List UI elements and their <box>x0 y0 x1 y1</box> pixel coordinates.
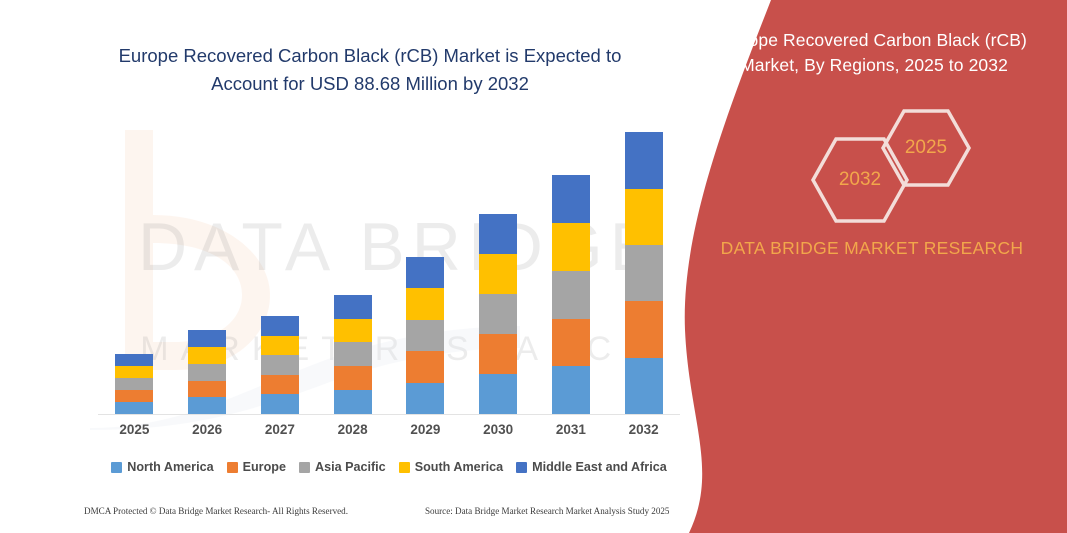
bar-segment <box>406 288 444 320</box>
bar-segment <box>334 390 372 414</box>
stacked-bar-chart <box>98 118 680 415</box>
legend-item[interactable]: Europe <box>227 460 286 474</box>
x-axis-tick: 2026 <box>171 422 244 444</box>
bar-segment <box>334 366 372 390</box>
bar-segment <box>552 366 590 414</box>
bar-segment <box>479 334 517 374</box>
right-brand-panel: Europe Recovered Carbon Black (rCB) Mark… <box>667 0 1067 533</box>
legend-label: South America <box>415 460 503 474</box>
x-axis-tick: 2028 <box>316 422 389 444</box>
bar-segment <box>479 294 517 334</box>
bar-slot <box>244 118 317 414</box>
hex-badge-2032: 2032 <box>810 136 910 224</box>
bar-segment <box>552 175 590 223</box>
legend-swatch-icon <box>111 462 122 473</box>
bar-segment <box>479 374 517 414</box>
legend-swatch-icon <box>399 462 410 473</box>
hexagon-badges: 2025 2032 <box>782 108 1012 223</box>
footer: DMCA Protected © Data Bridge Market Rese… <box>0 506 700 528</box>
bar-segment <box>188 364 226 381</box>
legend-item[interactable]: South America <box>399 460 503 474</box>
x-axis-tick: 2025 <box>98 422 171 444</box>
bar-segment <box>625 358 663 414</box>
bar-segment <box>261 394 299 414</box>
bar-segment <box>552 319 590 367</box>
legend-item[interactable]: Asia Pacific <box>299 460 386 474</box>
x-axis-tick: 2030 <box>462 422 535 444</box>
bar-segment <box>406 257 444 289</box>
stacked-bar[interactable] <box>406 257 444 415</box>
hex-badge-2032-label: 2032 <box>839 169 881 191</box>
bar-segment <box>625 301 663 357</box>
bar-segment <box>115 402 153 414</box>
legend-swatch-icon <box>227 462 238 473</box>
legend-label: Middle East and Africa <box>532 460 667 474</box>
legend-item[interactable]: Middle East and Africa <box>516 460 667 474</box>
x-axis-tick: 2029 <box>389 422 462 444</box>
stacked-bar[interactable] <box>552 175 590 414</box>
x-axis-labels: 20252026202720282029203020312032 <box>98 422 680 444</box>
footer-copyright: DMCA Protected © Data Bridge Market Rese… <box>84 506 348 516</box>
bar-group <box>98 118 680 414</box>
bar-segment <box>625 189 663 245</box>
bar-segment <box>188 330 226 347</box>
bar-segment <box>115 378 153 390</box>
bar-segment <box>334 295 372 319</box>
bar-segment <box>115 366 153 378</box>
bar-segment <box>552 223 590 271</box>
bar-segment <box>479 254 517 294</box>
stacked-bar[interactable] <box>479 214 517 414</box>
bar-segment <box>261 336 299 356</box>
bar-segment <box>188 381 226 398</box>
bar-segment <box>261 355 299 375</box>
bar-slot <box>98 118 171 414</box>
stacked-bar[interactable] <box>261 316 299 414</box>
bar-segment <box>334 319 372 343</box>
bar-segment <box>406 383 444 415</box>
hex-badge-2025-label: 2025 <box>905 137 947 159</box>
x-axis-tick: 2031 <box>535 422 608 444</box>
bar-segment <box>479 214 517 254</box>
bar-segment <box>188 397 226 414</box>
bar-slot <box>389 118 462 414</box>
legend-swatch-icon <box>299 462 310 473</box>
stacked-bar[interactable] <box>115 354 153 414</box>
bar-segment <box>261 316 299 336</box>
x-axis-tick: 2027 <box>244 422 317 444</box>
bar-segment <box>552 271 590 319</box>
footer-source: Source: Data Bridge Market Research Mark… <box>425 506 669 516</box>
axis-baseline <box>98 414 680 415</box>
panel-title: Europe Recovered Carbon Black (rCB) Mark… <box>709 28 1039 78</box>
page-title: Europe Recovered Carbon Black (rCB) Mark… <box>100 42 640 98</box>
infographic-canvas: DATA BRIDGE MARKET RESEARCH Europe Recov… <box>0 0 1067 533</box>
chart-area: DATA BRIDGE MARKET RESEARCH Europe Recov… <box>0 0 700 533</box>
bar-segment <box>188 347 226 364</box>
legend-item[interactable]: North America <box>111 460 213 474</box>
bar-segment <box>625 245 663 301</box>
bar-segment <box>261 375 299 395</box>
legend-label: Europe <box>243 460 286 474</box>
stacked-bar[interactable] <box>334 295 372 414</box>
bar-segment <box>115 390 153 402</box>
chart-legend: North AmericaEuropeAsia PacificSouth Ame… <box>98 455 680 479</box>
stacked-bar[interactable] <box>625 132 663 414</box>
bar-segment <box>406 320 444 352</box>
legend-label: North America <box>127 460 213 474</box>
bar-slot <box>171 118 244 414</box>
bar-slot <box>535 118 608 414</box>
legend-label: Asia Pacific <box>315 460 386 474</box>
bar-segment <box>406 351 444 383</box>
bar-slot <box>462 118 535 414</box>
bar-segment <box>625 132 663 188</box>
legend-swatch-icon <box>516 462 527 473</box>
panel-brand-text: DATA BRIDGE MARKET RESEARCH <box>707 235 1037 262</box>
bar-slot <box>316 118 389 414</box>
stacked-bar[interactable] <box>188 330 226 414</box>
bar-segment <box>115 354 153 366</box>
bar-segment <box>334 342 372 366</box>
